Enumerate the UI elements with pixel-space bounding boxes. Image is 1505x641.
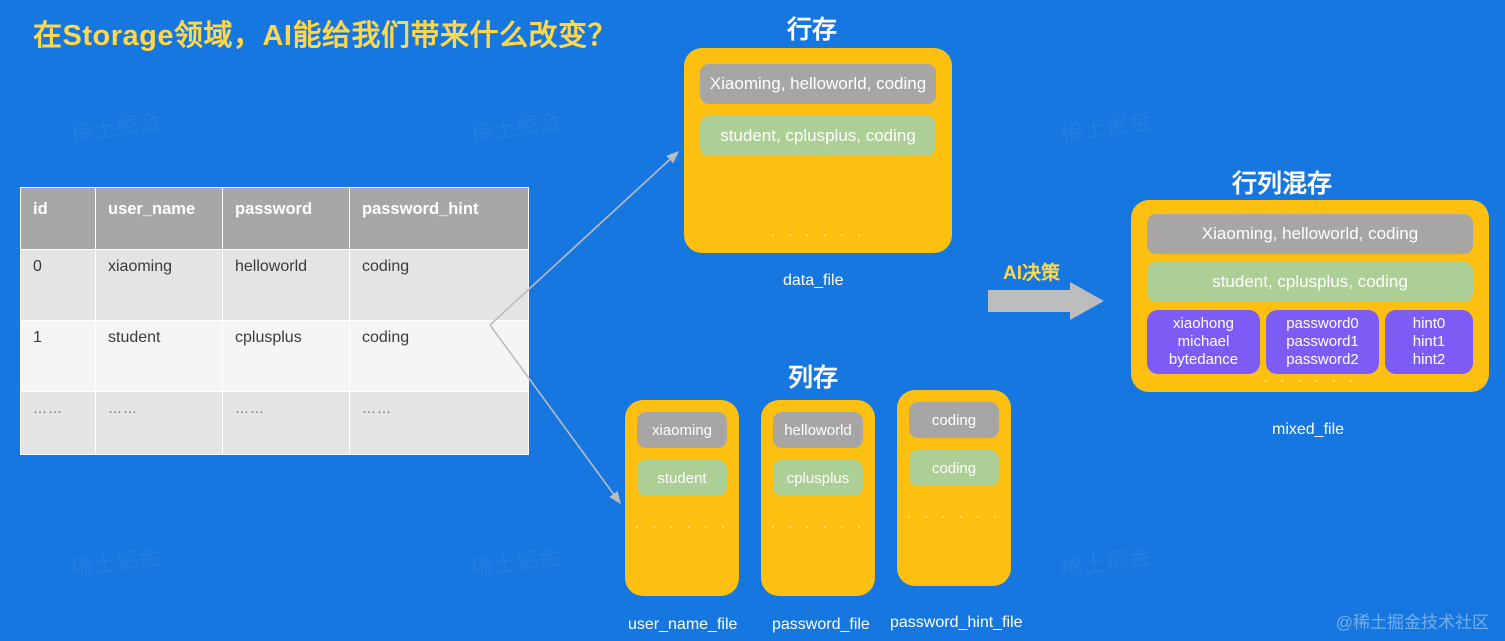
table-row: 1 student cplusplus coding (21, 321, 529, 392)
background-watermark: 稀土掘金 (68, 539, 164, 583)
table-header-row: id user_name password password_hint (21, 188, 529, 250)
table-row-ellipsis: …… …… …… …… (21, 392, 529, 455)
column-header-password-hint: password_hint (350, 188, 529, 250)
mixed-store-file-label: mixed_file (1272, 421, 1344, 439)
column-store-card-password: helloworld cplusplus · · · · · · (761, 400, 875, 596)
column-chip-row1: coding (909, 450, 999, 486)
cell-user-name: xiaoming (96, 250, 223, 321)
cell-password-hint: …… (350, 392, 529, 455)
column-chip-row0: helloworld (773, 412, 863, 448)
page-title: 在Storage领域，AI能给我们带来什么改变？ (33, 12, 617, 54)
background-watermark: 稀土掘金 (468, 104, 564, 148)
slide-canvas: 稀土掘金 稀土掘金 稀土掘金 稀土掘金 稀土掘金 稀土掘金 稀土掘金 稀土掘金 … (0, 0, 1505, 641)
column-chip-row0: xiaoming (637, 412, 727, 448)
column-store-title: 列存 (788, 358, 838, 394)
cell-password: cplusplus (223, 321, 350, 392)
row-store-card: Xiaoming, helloworld, coding student, cp… (684, 48, 952, 253)
table-row: 0 xiaoming helloworld coding (21, 250, 529, 321)
column-store-file-label-user-name: user_name_file (628, 616, 737, 634)
mixed-store-chip-row1: student, cplusplus, coding (1147, 262, 1473, 302)
column-store-file-label-password: password_file (772, 616, 870, 634)
cell-user-name: student (96, 321, 223, 392)
mixed-store-chip-row0: Xiaoming, helloworld, coding (1147, 214, 1473, 254)
background-watermark: 稀土掘金 (468, 539, 564, 583)
cell-password-hint: coding (350, 321, 529, 392)
cell-user-name: …… (96, 392, 223, 455)
background-watermark: 稀土掘金 (68, 104, 164, 148)
row-store-chip-row1: student, cplusplus, coding (700, 116, 936, 156)
column-header-user-name: user_name (96, 188, 223, 250)
cell-password-hint: coding (350, 250, 529, 321)
column-store-card-password-hint: coding coding · · · · · · (897, 390, 1011, 586)
column-store-ellipsis: · · · · · · (897, 508, 1011, 525)
row-store-ellipsis: · · · · · · (684, 226, 952, 243)
column-store-ellipsis: · · · · · · (625, 518, 739, 535)
row-store-file-label: data_file (783, 272, 844, 290)
column-store-file-label-password-hint: password_hint_file (890, 614, 1023, 632)
mixed-store-ellipsis: · · · · · · (1131, 372, 1489, 389)
column-store-ellipsis: · · · · · · (761, 518, 875, 535)
column-store-card-user-name: xiaoming student · · · · · · (625, 400, 739, 596)
community-watermark: @稀土掘金技术社区 (1336, 608, 1489, 633)
ai-decision-arrow-icon (988, 282, 1106, 320)
mixed-store-column-block-password: password0password1password2 (1266, 310, 1379, 374)
mixed-store-column-block-password-hint: hint0hint1hint2 (1385, 310, 1473, 374)
source-table: id user_name password password_hint 0 xi… (20, 187, 529, 455)
mixed-store-card: Xiaoming, helloworld, coding student, cp… (1131, 200, 1489, 392)
column-header-password: password (223, 188, 350, 250)
background-watermark: 稀土掘金 (1058, 104, 1154, 148)
cell-password: helloworld (223, 250, 350, 321)
column-chip-row1: cplusplus (773, 460, 863, 496)
cell-password: …… (223, 392, 350, 455)
background-watermark: 稀土掘金 (1058, 539, 1154, 583)
mixed-store-title: 行列混存 (1232, 164, 1332, 200)
row-store-title: 行存 (787, 10, 837, 46)
cell-id: …… (21, 392, 96, 455)
cell-id: 1 (21, 321, 96, 392)
column-chip-row1: student (637, 460, 727, 496)
row-store-chip-row0: Xiaoming, helloworld, coding (700, 64, 936, 104)
mixed-store-column-block-user-name: xiaohongmichaelbytedance (1147, 310, 1260, 374)
cell-id: 0 (21, 250, 96, 321)
column-header-id: id (21, 188, 96, 250)
column-chip-row0: coding (909, 402, 999, 438)
ai-decision-label: AI决策 (1003, 258, 1060, 285)
